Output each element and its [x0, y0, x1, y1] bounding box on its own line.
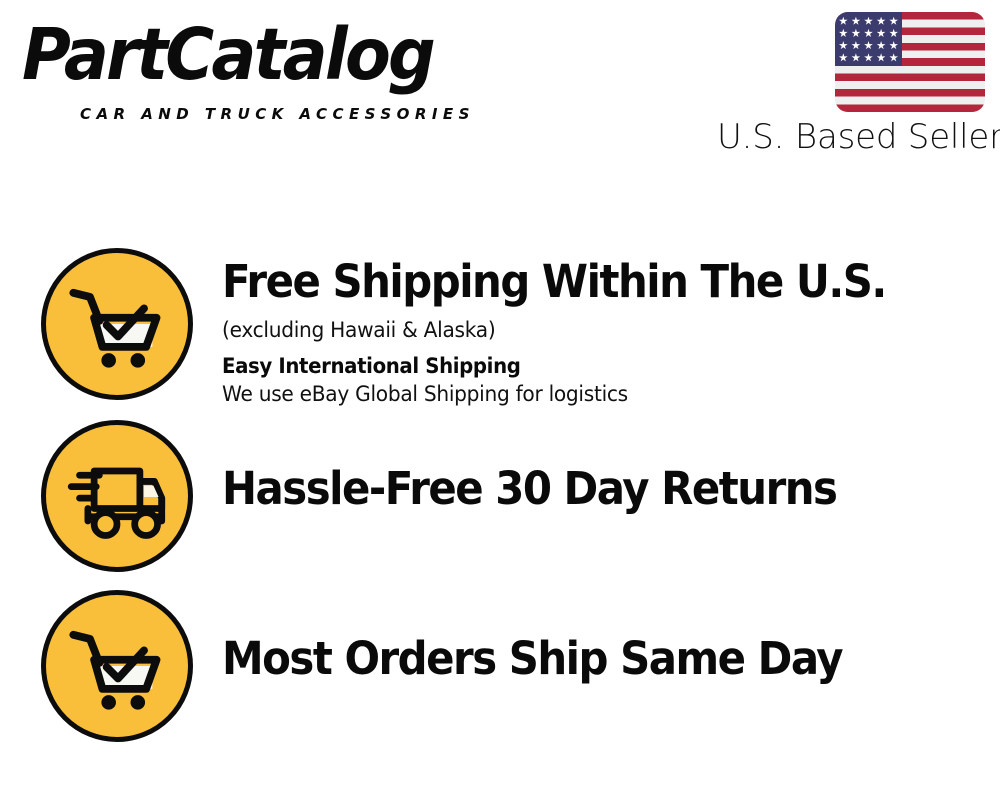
flag-stars	[835, 12, 902, 66]
star-icon	[864, 17, 873, 26]
star-icon	[851, 29, 860, 38]
feature-text: Hassle-Free 30 Day Returns	[222, 463, 962, 515]
star-icon	[851, 17, 860, 26]
brand-tagline: CAR AND TRUCK ACCESSORIES	[80, 106, 475, 123]
star-icon	[889, 17, 898, 26]
feature-headline: Hassle-Free 30 Day Returns	[222, 463, 910, 515]
icon-circle	[41, 248, 193, 400]
shopping-cart-check-icon	[65, 614, 169, 718]
shopping-cart-check-icon	[65, 272, 169, 376]
feature-sub-text: We use eBay Global Shipping for logistic…	[222, 380, 932, 408]
feature-sub-heading: Easy International Shipping	[222, 352, 918, 380]
star-icon	[889, 41, 898, 50]
feature-headline: Most Orders Ship Same Day	[222, 633, 910, 685]
star-icon	[839, 41, 848, 50]
delivery-truck-icon	[65, 444, 169, 548]
star-icon	[851, 41, 860, 50]
star-icon	[839, 17, 848, 26]
brand-logo: PartCatalog CAR AND TRUCK ACCESSORIES	[22, 18, 492, 118]
star-icon	[864, 53, 873, 62]
star-icon	[877, 29, 886, 38]
feature-icon	[41, 590, 193, 742]
feature-text: Most Orders Ship Same Day	[222, 633, 962, 685]
feature-icon	[41, 248, 193, 400]
us-based-seller-badge: U.S. Based Seller	[717, 12, 985, 157]
star-icon	[851, 53, 860, 62]
feature-text: Free Shipping Within The U.S. (excluding…	[222, 256, 962, 408]
star-icon	[877, 17, 886, 26]
star-icon	[877, 53, 886, 62]
feature-headline: Free Shipping Within The U.S.	[222, 256, 910, 308]
feature-icon	[41, 420, 193, 572]
star-icon	[839, 29, 848, 38]
star-icon	[864, 29, 873, 38]
brand-wordmark: PartCatalog	[22, 18, 433, 92]
star-icon	[877, 41, 886, 50]
star-icon	[889, 29, 898, 38]
star-icon	[864, 41, 873, 50]
seller-badge-label: U.S. Based Seller	[717, 117, 985, 157]
promo-banner: PartCatalog CAR AND TRUCK ACCESSORIES	[0, 0, 1000, 800]
flag-canton	[835, 12, 902, 66]
icon-circle	[41, 590, 193, 742]
star-icon	[889, 53, 898, 62]
feature-note: (excluding Hawaii & Alaska)	[222, 316, 932, 344]
star-icon	[839, 53, 848, 62]
us-flag-icon	[835, 12, 985, 112]
icon-circle	[41, 420, 193, 572]
